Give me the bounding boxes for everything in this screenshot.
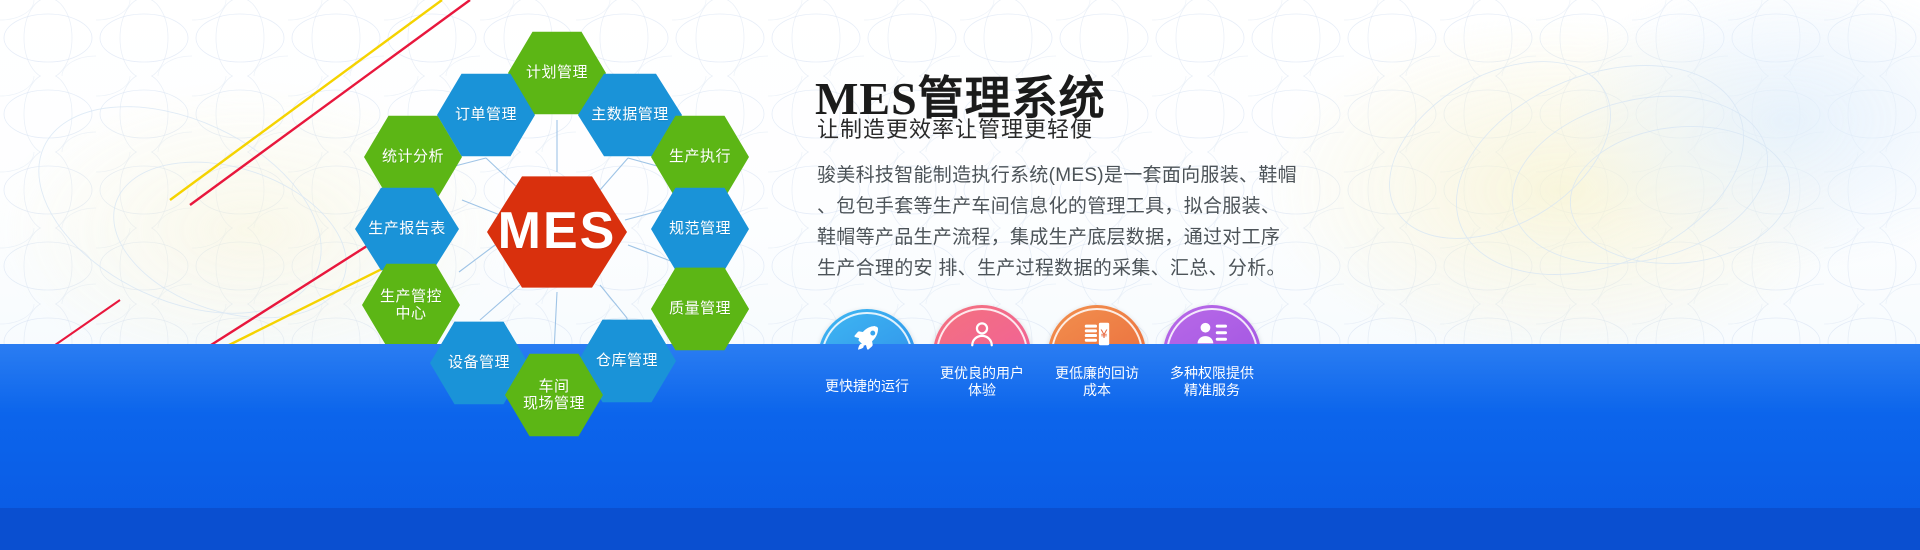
feature-circle-label: 更优良的用户体验 <box>936 365 1028 403</box>
hexagon-label: 质量管理 <box>663 300 737 317</box>
banner-root: 计划管理订单管理主数据管理统计分析生产执行生产报告表规范管理生产管控中心质量管理… <box>0 0 1920 550</box>
permission-icon <box>1163 319 1261 353</box>
coins-icon: ¥ <box>1048 319 1146 353</box>
description-line: 、包包手套等生产车间信息化的管理工具，拟合服装、 <box>817 191 1277 222</box>
description-paragraph: 骏美科技智能制造执行系统(MES)是一套面向服装、鞋帽、包包手套等生产车间信息化… <box>817 160 1277 284</box>
feature-circle-label: 更低廉的回访成本 <box>1051 365 1143 403</box>
hexagon-label: 车间现场管理 <box>517 378 591 413</box>
rocket-icon <box>818 323 916 357</box>
hexagon-node[interactable]: 质量管理 <box>651 266 749 352</box>
hexagon-label: 仓库管理 <box>590 352 664 369</box>
feature-circle-label: 更快捷的运行 <box>821 378 913 407</box>
description-line: 鞋帽等产品生产流程，集成生产底层数据，通过对工序 <box>817 222 1277 253</box>
hexagon-label: 设备管理 <box>442 354 516 371</box>
feature-circle-label: 多种权限提供精准服务 <box>1166 365 1258 403</box>
mes-hexagon-diagram-front: 质量管理设备管理仓库管理车间现场管理 <box>0 0 860 550</box>
description-line: 骏美科技智能制造执行系统(MES)是一套面向服装、鞋帽 <box>817 160 1277 191</box>
svg-text:¥: ¥ <box>1100 327 1108 341</box>
user-icon <box>933 319 1031 353</box>
description-line: 生产合理的安 排、生产过程数据的采集、汇总、分析。 <box>817 253 1277 284</box>
